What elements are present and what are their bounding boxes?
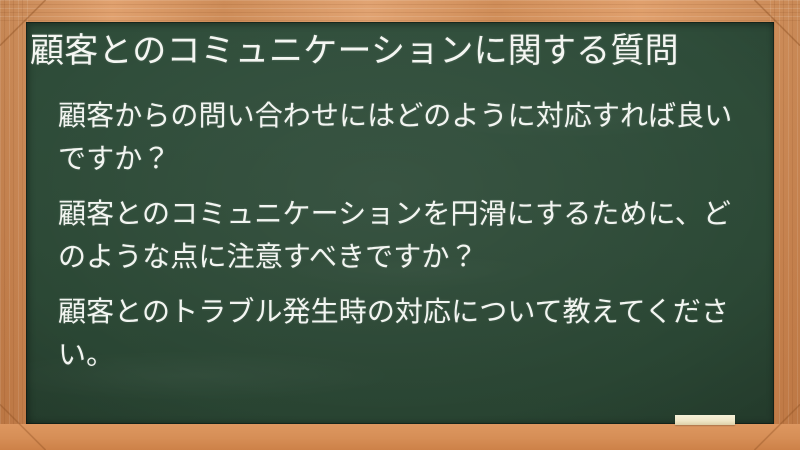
list-item: 顧客とのコミュニケーションを円滑にするために、どのような点に注意すべきですか？ xyxy=(58,192,748,278)
slide-title: 顧客とのコミュニケーションに関する質問 xyxy=(30,30,748,72)
chalkboard-surface: 顧客とのコミュニケーションに関する質問 顧客からの問い合わせにはどのように対応す… xyxy=(26,22,774,424)
list-item: 顧客からの問い合わせにはどのように対応すれば良いですか？ xyxy=(58,94,748,180)
chalkboard-slide: 顧客とのコミュニケーションに関する質問 顧客からの問い合わせにはどのように対応す… xyxy=(0,0,800,450)
chalk-stick-icon xyxy=(675,415,735,425)
frame-grain-right xyxy=(770,0,800,450)
chalk-ledge xyxy=(0,424,800,450)
slide-content: 顧客とのコミュニケーションに関する質問 顧客からの問い合わせにはどのように対応す… xyxy=(26,22,774,424)
question-list: 顧客からの問い合わせにはどのように対応すれば良いですか？ 顧客とのコミュニケーシ… xyxy=(30,94,748,376)
frame-grain-top xyxy=(0,0,800,22)
list-item: 顧客とのトラブル発生時の対応について教えてください。 xyxy=(58,290,748,376)
